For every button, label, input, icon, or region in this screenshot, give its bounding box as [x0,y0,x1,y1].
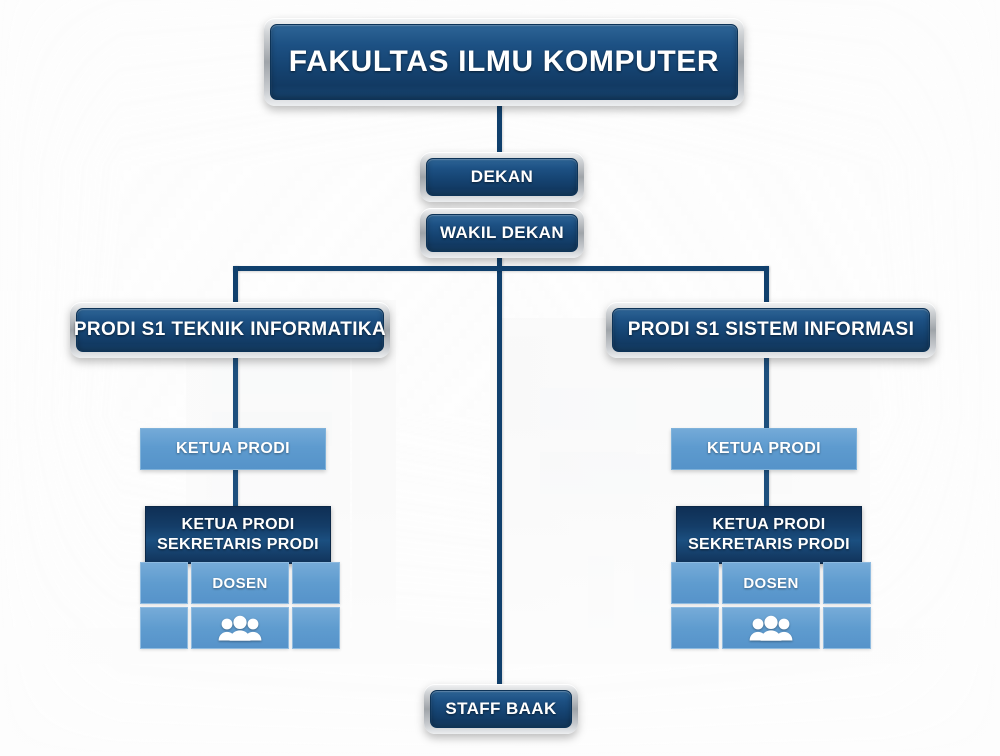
connector-prodi-ti-to-head [233,356,238,430]
staff-cell-si-2[interactable] [823,562,871,604]
staff-cell-ti-dosen-label: DOSEN [212,575,267,592]
staff-cell-si-dosen[interactable]: DOSEN [722,562,820,604]
staff-cell-ti-5[interactable] [292,607,340,649]
node-vice-dean[interactable]: WAKIL DEKAN [420,208,584,258]
staff-cell-ti-people[interactable] [191,607,289,649]
node-dean-label: DEKAN [471,167,533,187]
staff-cell-ti-0[interactable] [140,562,188,604]
node-dean[interactable]: DEKAN [420,152,584,202]
node-secretary-si-line1: KETUA PRODI [713,515,826,535]
connector-branch-to-prodi-ti [233,266,238,306]
staff-cell-si-dosen-label: DOSEN [743,575,798,592]
node-department-teknik-informatika[interactable]: PRODI S1 TEKNIK INFORMATIKA [70,302,390,358]
node-head-teknik-informatika[interactable]: KETUA PRODI [140,428,326,470]
connector-head-ti-to-secretary [233,470,238,508]
org-chart-canvas: FAKULTAS ILMU KOMPUTER DEKAN WAKIL DEKAN… [0,0,1000,756]
node-secretary-ti-line2: SEKRETARIS PRODI [157,535,319,555]
node-vice-dean-label: WAKIL DEKAN [440,223,564,243]
people-group-icon [218,615,262,641]
staff-cell-si-0[interactable] [671,562,719,604]
node-department-sistem-informasi[interactable]: PRODI S1 SISTEM INFORMASI [606,302,936,358]
node-faculty[interactable]: FAKULTAS ILMU KOMPUTER [264,18,744,106]
staff-cell-si-3[interactable] [671,607,719,649]
node-secretary-si-line2: SEKRETARIS PRODI [688,535,850,555]
node-head-sistem-informasi[interactable]: KETUA PRODI [671,428,857,470]
staff-cell-si-5[interactable] [823,607,871,649]
node-head-si-label: KETUA PRODI [707,440,821,458]
connector-branch-bar [233,266,769,271]
node-department-si-label: PRODI S1 SISTEM INFORMASI [628,319,915,341]
staff-cell-si-people[interactable] [722,607,820,649]
people-group-icon [749,615,793,641]
staff-cell-ti-2[interactable] [292,562,340,604]
connector-prodi-si-to-head [764,356,769,430]
connector-faculty-to-dean [497,104,502,154]
staff-cell-ti-dosen[interactable]: DOSEN [191,562,289,604]
node-department-ti-label: PRODI S1 TEKNIK INFORMATIKA [74,319,386,341]
staff-cell-ti-3[interactable] [140,607,188,649]
connector-head-si-to-secretary [764,470,769,508]
node-secretary-ti-line1: KETUA PRODI [182,515,295,535]
node-secretary-teknik-informatika[interactable]: KETUA PRODI SEKRETARIS PRODI [145,506,331,564]
node-head-ti-label: KETUA PRODI [176,440,290,458]
node-secretary-sistem-informasi[interactable]: KETUA PRODI SEKRETARIS PRODI [676,506,862,564]
connector-vicedean-spine [497,256,502,686]
node-faculty-label: FAKULTAS ILMU KOMPUTER [289,45,719,79]
node-staff-baak[interactable]: STAFF BAAK [424,684,578,734]
connector-branch-to-prodi-si [764,266,769,306]
node-staff-baak-label: STAFF BAAK [445,699,556,719]
